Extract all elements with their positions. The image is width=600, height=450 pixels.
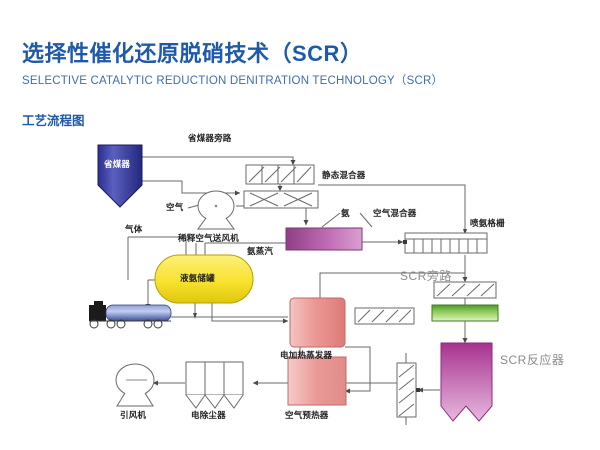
slide-page: 选择性催化还原脱硝技术（SCR） SELECTIVE CATALYTIC RED… <box>0 0 600 450</box>
pipe-tank-to-evaporator <box>195 303 288 321</box>
equipment-ammonia-injection-grid <box>403 233 487 253</box>
pipe-air-to-fan <box>188 205 199 208</box>
pipe-economizer-to-bypass <box>142 157 293 165</box>
label-dilution-air-fan: 稀释空气送风机 <box>178 232 239 244</box>
equipment-static-mixer <box>244 191 318 208</box>
page-subtitle: SELECTIVE CATALYTIC REDUCTION DENITRATIO… <box>22 72 443 88</box>
equipment-esp <box>186 362 243 408</box>
label-esp: 电除尘器 <box>191 409 226 421</box>
label-ammonia-mixer-b: 空气混合器 <box>373 207 417 219</box>
label-static-mixer: 静态混合器 <box>322 169 366 181</box>
pipe-economizer-to-static-mixer <box>142 181 240 193</box>
label-economizer: 省煤器 <box>104 158 130 170</box>
equipment-electric-evaporator <box>290 298 345 347</box>
label-electric-evaporator: 电加热蒸发器 <box>280 349 332 361</box>
equipment-air-preheater <box>288 357 346 405</box>
label-ammonia-tank: 液氨储罐 <box>180 272 215 284</box>
pipe-evaporator-to-bottom <box>345 347 370 391</box>
label-air: 空气 <box>166 201 183 213</box>
equipment-scr-reactor <box>441 343 492 421</box>
equipment-id-fan <box>116 364 154 406</box>
equipment-economizer <box>98 145 142 207</box>
label-scr-bypass: SCR旁路 <box>400 267 452 284</box>
label-economizer-bypass: 省煤器旁路 <box>188 132 232 144</box>
equipment-outlet-damper <box>397 363 420 417</box>
label-id-fan: 引风机 <box>120 409 146 421</box>
label-scr-reactor: SCR反应器 <box>500 351 564 368</box>
label-air-preheater: 空气预热器 <box>285 409 329 421</box>
process-flow-diagram: 省煤器 省煤器旁路 静态混合器 空气 稀释空气送风机 气体 液氨储罐 氨蒸汽 电… <box>0 125 600 435</box>
page-title: 选择性催化还原脱硝技术（SCR） <box>22 36 362 68</box>
equipment-tanker-truck <box>89 301 171 328</box>
label-gas: 气体 <box>125 223 142 235</box>
equipment-bypass-damper <box>246 165 314 184</box>
equipment-ammonia-air-mixer <box>286 228 362 250</box>
equipment-dilution-air-fan <box>198 191 234 229</box>
equipment-scr-inlet-damper <box>432 305 498 321</box>
pipe-fan-to-mixer <box>236 206 306 225</box>
label-ammonia-vapor: 氨蒸汽 <box>247 245 273 257</box>
equipment-left-bypass-damper <box>355 308 414 324</box>
equipment-scr-bypass-damper <box>434 282 496 298</box>
label-ammonia-mixer-a: 氨 <box>341 207 350 219</box>
label-ammonia-injection-grid: 喷氨格栅 <box>470 217 505 229</box>
